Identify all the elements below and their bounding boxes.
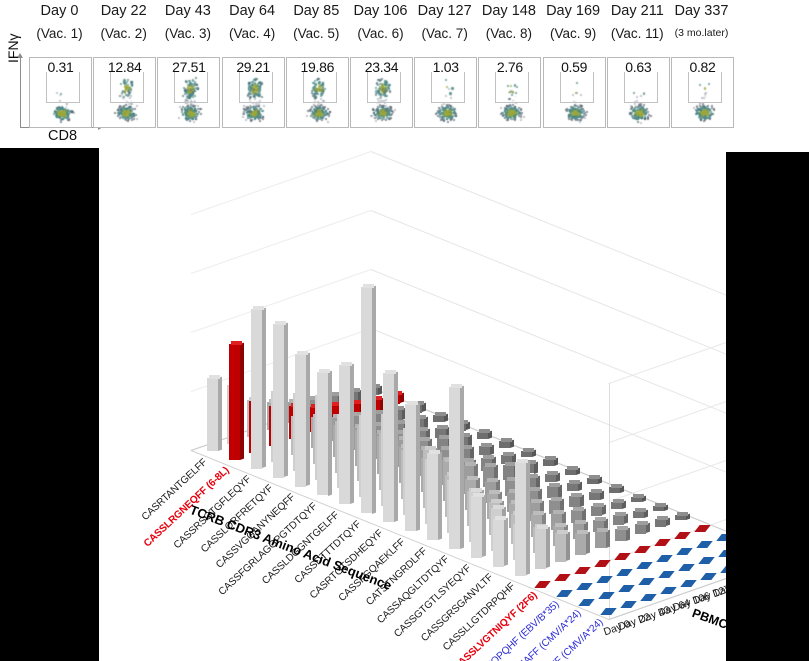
bar-top-face [537, 525, 548, 529]
flow-column-header: Day 148(Vac. 8) [476, 0, 541, 41]
flow-event-dot [508, 105, 510, 107]
chart-diamond-marker [698, 557, 714, 564]
flow-dotplot[interactable]: 0.63 [607, 57, 670, 128]
flow-event-dot [132, 108, 134, 110]
chart-bar [615, 529, 626, 541]
bar-top-face [523, 448, 534, 452]
bar-front-face [555, 533, 566, 561]
tcrb-clonotype-3d-bar-chart: 0.00.51.01.52.0Frequency (%)CASRTANTGELF… [99, 148, 726, 661]
bar-top-face [407, 401, 418, 405]
bar-front-face [207, 378, 218, 451]
flow-day-label: Day 43 [155, 0, 220, 19]
chart-diamond-marker [638, 578, 654, 585]
flow-gate-rectangle[interactable] [110, 72, 144, 103]
bar-front-face [493, 519, 504, 566]
bar-top-face [549, 483, 560, 487]
flow-event-dot [379, 117, 381, 119]
flow-event-dot [312, 111, 314, 113]
flow-event-dot [191, 106, 193, 108]
flow-event-dot [375, 120, 377, 122]
flow-event-dot [179, 106, 181, 108]
flow-event-dot [581, 108, 583, 110]
flow-event-dot [200, 113, 202, 115]
flow-event-dot [506, 119, 508, 121]
chart-bar [433, 415, 444, 422]
bar-front-face [229, 344, 240, 460]
chart-diamond-marker [658, 571, 674, 578]
bar-side-face [262, 308, 266, 469]
chart-diamond-marker [700, 573, 716, 580]
bar-side-face [394, 372, 398, 522]
chart-diamond-marker [578, 599, 594, 606]
flow-event-dot [381, 106, 383, 108]
bar-top-face [231, 341, 242, 345]
chart-bar [567, 483, 578, 491]
flow-event-dot [703, 106, 705, 108]
bar-top-face [595, 517, 606, 521]
bar-front-face [273, 324, 284, 477]
bar-side-face [218, 376, 222, 451]
bar-top-face [495, 516, 506, 520]
flow-column-header: Day 106(Vac. 6) [348, 0, 413, 41]
bar-top-face [479, 429, 490, 433]
flow-gate-rectangle[interactable] [239, 72, 273, 103]
flow-dotplot[interactable]: 0.59 [543, 57, 606, 128]
bar-side-face [504, 518, 508, 567]
flow-event-dot [520, 119, 522, 121]
flow-gate-percentage: 0.82 [672, 59, 733, 75]
bar-top-face [533, 511, 544, 515]
chart-grid-line [371, 210, 726, 380]
flow-column-header: Day 211(Vac. 11) [605, 0, 670, 41]
flow-event-dot [185, 118, 187, 120]
flow-event-dot [390, 117, 392, 119]
flow-event-dot [640, 115, 642, 117]
chart-bar [653, 506, 664, 511]
bar-top-face [385, 370, 396, 374]
flow-dotplot[interactable]: 2.76 [478, 57, 541, 128]
flow-event-dot [707, 105, 709, 107]
flow-event-dot [317, 118, 319, 120]
chart-bar [675, 515, 686, 520]
flow-event-dot [635, 112, 637, 114]
bar-front-face [471, 496, 482, 557]
flow-dotplot[interactable]: 23.34 [350, 57, 413, 128]
flow-event-dot [385, 119, 387, 121]
flow-event-dot [242, 116, 244, 118]
flow-event-dot [325, 114, 327, 116]
chart-bar [339, 365, 350, 504]
chart-bar [295, 354, 306, 486]
flow-event-dot [645, 113, 647, 115]
bar-front-face [575, 533, 586, 554]
chart-diamond-marker [596, 576, 612, 583]
flow-vaccination-label: (Vac. 8) [476, 19, 541, 41]
flow-event-dot [62, 107, 64, 109]
right-black-mask [726, 152, 809, 661]
flow-cytometry-panel: IFNγ CD8 Day 0(Vac. 1)Day 22(Vac. 2)Day … [0, 0, 809, 148]
chart-bar [383, 373, 394, 522]
left-black-mask [0, 148, 99, 661]
flow-event-dot [328, 115, 330, 117]
chart-bar [515, 462, 526, 575]
bar-top-face [613, 499, 624, 503]
flow-vaccination-label: (Vac. 3) [155, 19, 220, 41]
flow-gate-rectangle[interactable] [367, 72, 401, 103]
chart-bar [587, 478, 598, 484]
flow-gate-percentage: 1.03 [415, 59, 476, 75]
chart-diamond-marker [676, 548, 692, 555]
flow-gate-rectangle[interactable] [688, 72, 722, 103]
chart-grid-line [191, 210, 371, 274]
flow-day-label: Day 211 [605, 0, 670, 19]
flow-event-dot [258, 106, 260, 108]
flow-event-dot [245, 119, 247, 121]
flow-column-header: Day 337(3 mo.later) [669, 0, 734, 41]
flow-event-dot [178, 117, 180, 119]
flow-event-dot [197, 108, 199, 110]
bar-top-face [275, 321, 286, 325]
chart-bar [479, 446, 490, 455]
bar-top-face [471, 488, 482, 492]
flow-event-dot [582, 111, 584, 113]
flow-event-dot [193, 121, 195, 123]
bar-side-face [438, 451, 442, 540]
flow-event-dot [114, 112, 116, 114]
flow-day-label: Day 169 [541, 0, 606, 19]
bar-top-face [517, 459, 528, 463]
flow-event-dot [389, 114, 391, 116]
bar-top-face [553, 510, 564, 514]
flow-event-dot [709, 118, 711, 120]
flow-dotplot[interactable]: 27.51 [157, 57, 220, 128]
flow-event-dot [195, 118, 197, 120]
flow-event-dot [451, 115, 453, 117]
bar-top-face [557, 530, 568, 534]
chart-stage: 0.00.51.01.52.0Frequency (%)CASRTANTGELF… [99, 148, 726, 661]
flow-gate-rectangle[interactable] [431, 72, 465, 103]
flow-event-dot [318, 106, 320, 108]
flow-event-dot [261, 110, 263, 112]
flow-vaccination-label: (Vac. 11) [605, 19, 670, 41]
flow-event-dot [647, 111, 649, 113]
flow-event-dot [446, 113, 448, 115]
bar-top-face [501, 438, 512, 442]
bar-top-face [465, 462, 476, 466]
chart-bar [635, 524, 646, 533]
bar-front-face [545, 474, 556, 482]
bar-top-face [567, 466, 578, 470]
flow-event-dot [453, 119, 455, 121]
bar-side-face [606, 530, 610, 548]
bar-top-face [483, 455, 494, 459]
bar-top-face [429, 450, 440, 454]
chart-diamond-marker [618, 585, 634, 592]
flow-dotplot[interactable]: 19.86 [286, 57, 349, 128]
bar-side-face [526, 461, 530, 576]
flow-event-dot [130, 103, 132, 105]
flow-gate-rectangle[interactable] [624, 72, 658, 103]
flow-event-dot [390, 108, 392, 110]
bar-side-face [372, 285, 376, 513]
chart-diamond-marker [620, 601, 636, 608]
bar-top-face [437, 425, 448, 429]
flow-event-dot [388, 118, 390, 120]
flow-event-dot [647, 118, 649, 120]
flow-event-dot [385, 105, 387, 107]
bar-front-face [295, 354, 306, 486]
bar-top-face [319, 369, 330, 373]
bar-front-face [615, 529, 626, 541]
chart-diamond-marker [680, 580, 696, 587]
bar-side-face [546, 527, 550, 568]
flow-day-label: Day 85 [284, 0, 349, 19]
flow-event-dot [68, 113, 70, 115]
bar-top-face [577, 530, 588, 534]
bar-top-face [531, 499, 542, 503]
flow-event-dot [579, 121, 581, 123]
flow-event-dot [134, 108, 136, 110]
flow-event-dot [66, 106, 68, 108]
flow-event-dot [644, 118, 646, 120]
chart-diamond-marker [598, 592, 614, 599]
flow-event-dot [327, 121, 329, 123]
flow-event-dot [306, 115, 308, 117]
chart-diamond-marker [718, 550, 726, 557]
flow-event-dot [394, 109, 396, 111]
flow-event-dot [73, 112, 75, 114]
bar-front-face [339, 365, 350, 504]
flow-dotplot[interactable]: 0.82 [671, 57, 734, 128]
chart-bar [613, 515, 624, 524]
flow-event-dot [639, 112, 641, 114]
bar-top-face [491, 499, 502, 503]
flow-event-dot [328, 113, 330, 115]
chart-diamond-marker [674, 532, 690, 539]
flow-event-dot [710, 111, 712, 113]
flow-event-dot [446, 118, 448, 120]
flow-vaccination-label: (Vac. 6) [348, 19, 413, 41]
flow-event-dot [320, 114, 322, 116]
bar-top-face [589, 475, 600, 479]
bar-top-face [551, 497, 562, 501]
flow-event-dot [695, 113, 697, 115]
chart-diamond-marker [694, 525, 710, 532]
bar-front-face [591, 506, 602, 515]
flow-event-dot [68, 119, 70, 121]
flow-event-dot [579, 110, 581, 112]
flow-event-dot [122, 108, 124, 110]
flow-event-dot [136, 105, 138, 107]
flow-event-dot [181, 109, 183, 111]
bar-front-face [479, 446, 490, 455]
flow-event-dot [66, 113, 68, 115]
chart-bar [251, 309, 262, 468]
flow-y-axis-line [20, 56, 21, 128]
chart-bar [427, 453, 438, 540]
chart-bar [449, 387, 460, 549]
chart-bar [609, 487, 620, 493]
bar-top-face [481, 443, 492, 447]
flow-dotplot[interactable]: 1.03 [414, 57, 477, 128]
flow-vaccination-label: (Vac. 5) [284, 19, 349, 41]
bar-top-face [503, 452, 514, 456]
flow-event-dot [704, 119, 706, 121]
chart-bar [655, 519, 666, 526]
chart-bar [521, 451, 532, 457]
flow-event-dot [307, 110, 309, 112]
chart-bar [545, 474, 556, 482]
bar-front-face [633, 511, 644, 518]
flow-gate-percentage: 23.34 [351, 59, 412, 75]
bar-top-face [473, 493, 484, 497]
flow-vaccination-label: (3 mo.later) [669, 19, 734, 41]
bar-top-face [545, 456, 556, 460]
chart-bar [207, 378, 218, 451]
flow-event-dot [586, 111, 588, 113]
chart-bar [631, 497, 642, 502]
flow-event-dot [182, 114, 184, 116]
chart-diamond-marker [534, 581, 550, 588]
flow-event-dot [323, 115, 325, 117]
bar-top-face [253, 306, 264, 310]
bar-top-face [597, 528, 608, 532]
chart-diamond-marker [656, 555, 672, 562]
bar-front-face [613, 515, 624, 524]
chart-diamond-marker [614, 553, 630, 560]
bar-front-face [635, 524, 646, 533]
flow-vaccination-label: (Vac. 7) [412, 19, 477, 41]
flow-gate-rectangle[interactable] [303, 72, 337, 103]
bar-top-face [571, 493, 582, 497]
chart-diamond-marker [556, 590, 572, 597]
flow-event-dot [447, 121, 449, 123]
chart-bar [569, 496, 580, 507]
bar-side-face [460, 386, 464, 549]
flow-event-dot [325, 118, 327, 120]
flow-event-dot [585, 114, 587, 116]
flow-event-dot [443, 103, 445, 105]
flow-event-dot [250, 107, 252, 109]
flow-event-dot [571, 110, 573, 112]
bar-front-face [383, 373, 394, 522]
flow-column-header: Day 127(Vac. 7) [412, 0, 477, 41]
bar-top-face [657, 516, 668, 520]
flow-event-dot [574, 108, 576, 110]
flow-vaccination-label: (Vac. 2) [91, 19, 156, 41]
bar-top-face [575, 520, 586, 524]
flow-gate-rectangle[interactable] [46, 72, 80, 103]
bar-side-face [284, 323, 288, 478]
flow-gate-rectangle[interactable] [174, 72, 208, 103]
bar-top-face [635, 508, 646, 512]
flow-event-dot [450, 105, 452, 107]
flow-gate-percentage: 27.51 [158, 59, 219, 75]
bar-front-face [569, 496, 580, 507]
flow-event-dot [443, 117, 445, 119]
chart-diamond-marker [678, 564, 694, 571]
bar-top-face [569, 480, 580, 484]
bar-top-face [297, 351, 308, 355]
flow-event-dot [327, 108, 329, 110]
bar-side-face [306, 353, 310, 487]
flow-dotplot[interactable]: 0.31 [29, 57, 92, 128]
flow-event-dot [641, 106, 643, 108]
flow-gate-rectangle[interactable] [495, 72, 529, 103]
bar-side-face [586, 532, 590, 555]
chart-bar [471, 496, 482, 557]
flow-event-dot [436, 112, 438, 114]
flow-column-header: Day 169(Vac. 9) [541, 0, 606, 41]
flow-event-dot [197, 105, 199, 107]
chart-grid-line [191, 151, 371, 215]
bar-top-face [487, 478, 498, 482]
chart-diamond-marker [600, 608, 616, 615]
bar-top-face [485, 463, 496, 467]
chart-bar [499, 441, 510, 448]
flow-event-dot [60, 121, 62, 123]
bar-side-face [328, 370, 332, 495]
bar-top-face [573, 507, 584, 511]
bar-top-face [617, 526, 628, 530]
chart-grid-line [371, 269, 726, 439]
bar-top-face [655, 503, 666, 507]
chart-bar [477, 432, 488, 439]
flow-day-label: Day 337 [669, 0, 734, 19]
bar-side-face [566, 532, 570, 562]
bar-top-face [637, 521, 648, 525]
bar-front-face [361, 287, 372, 514]
bar-front-face [595, 531, 606, 548]
flow-vaccination-label: (Vac. 9) [541, 19, 606, 41]
bar-top-face [451, 384, 462, 388]
chart-bar [591, 506, 602, 515]
bar-side-face [482, 495, 486, 558]
chart-diamond-marker [636, 562, 652, 569]
bar-top-face [615, 512, 626, 516]
flow-event-dot [630, 105, 632, 107]
bar-front-face [535, 528, 546, 568]
flow-event-dot [645, 109, 647, 111]
bar-top-face [633, 494, 644, 498]
chart-diamond-marker [696, 541, 712, 548]
bar-top-face [493, 505, 504, 509]
bar-side-face [350, 364, 354, 505]
flow-event-dot [637, 121, 639, 123]
flow-event-dot [135, 114, 137, 116]
flow-event-dot [453, 115, 455, 117]
chart-bar [405, 404, 416, 531]
flow-dotplot[interactable]: 12.84 [93, 57, 156, 128]
flow-dotplot[interactable]: 29.21 [222, 57, 285, 128]
bar-front-face [515, 462, 526, 575]
flow-event-dot [129, 106, 131, 108]
flow-vaccination-label: (Vac. 4) [220, 19, 285, 41]
bar-side-face [240, 343, 244, 460]
bar-top-face [419, 437, 430, 441]
flow-column-header: Day 43(Vac. 3) [155, 0, 220, 41]
chart-bar [633, 511, 644, 518]
bar-front-face [477, 432, 488, 439]
chart-diamond-marker [554, 574, 570, 581]
bar-side-face [416, 402, 420, 531]
flow-event-dot [62, 118, 64, 120]
flow-event-dot [263, 105, 265, 107]
bar-top-face [591, 489, 602, 493]
flow-gate-rectangle[interactable] [560, 72, 594, 103]
bar-front-face [499, 441, 510, 448]
chart-bar [361, 287, 372, 514]
